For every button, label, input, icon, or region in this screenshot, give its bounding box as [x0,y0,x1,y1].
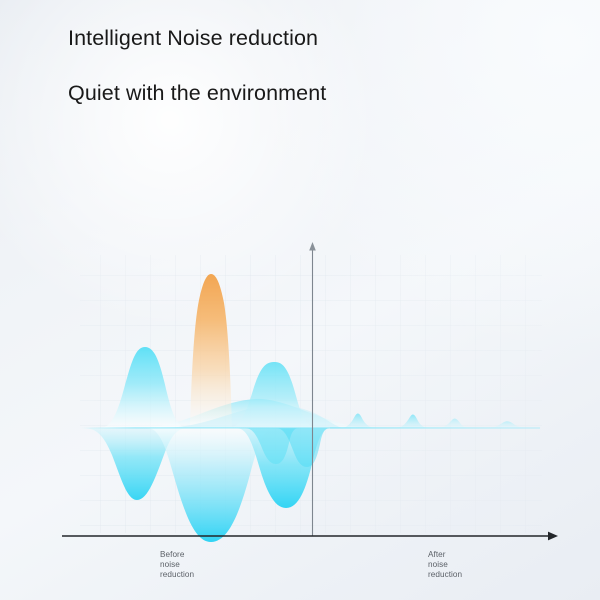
label-before-noise-reduction: Before noise reduction [160,550,194,581]
label-after-line-3: reduction [428,570,462,580]
y-axis-arrow-icon [309,242,316,251]
label-after-line-2: noise [428,560,462,570]
label-before-line-3: reduction [160,570,194,580]
x-axis-arrow-icon [548,532,558,541]
waveform-baseline [80,427,542,429]
label-after-line-1: After [428,550,462,560]
label-before-line-2: noise [160,560,194,570]
label-after-noise-reduction: After noise reduction [428,550,462,581]
label-before-line-1: Before [160,550,194,560]
noise-reduction-chart [0,0,600,600]
promo-graphic: Intelligent Noise reduction Quiet with t… [0,0,600,600]
